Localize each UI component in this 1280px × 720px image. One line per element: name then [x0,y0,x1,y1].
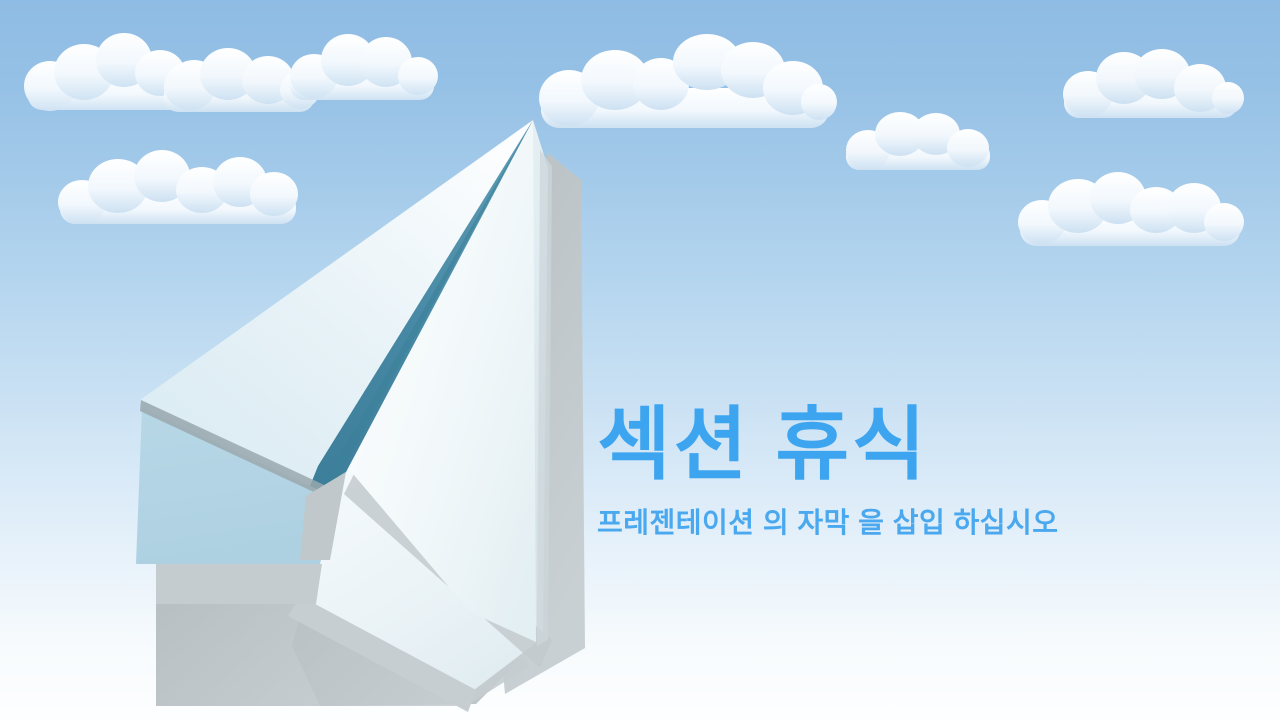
plane-shadow-wing-underside [156,556,530,706]
plane-panel-top-strip [140,400,335,501]
plane-wing-panel [136,408,336,564]
plane-panel-shadow-wedge [300,472,346,560]
plane-body-face [330,120,536,642]
paper-airplane-illustration [0,0,1280,720]
cloud-mid-right [1016,170,1244,248]
plane-rear-fin-highlight [537,150,552,646]
plane-fold-edge [306,120,533,496]
plane-far-wing [348,120,548,642]
plane-shadow-rear-fin [500,152,585,694]
cloud-top-right [1060,48,1242,120]
cloud-mid-center [842,112,994,172]
cloud-top-left-b [160,38,320,114]
plane-keel-bottom-shadow [288,596,476,712]
paper-airplane-svg [0,0,1280,720]
slide-subtitle[interactable]: 프레젠테이션 의 자막 을 삽입 하십시오 [597,485,1197,539]
plane-panel-bottom-ledge [156,564,322,604]
cloud-top-mid [286,30,438,102]
plane-fold-crease [322,120,533,493]
cloud-mid-left [56,150,300,226]
plane-keel-shadow [344,470,552,668]
plane-shadow-lower-body [292,556,520,706]
presentation-slide: 섹션 휴식 프레젠테이션 의 자막 을 삽입 하십시오 [0,0,1280,720]
slide-title[interactable]: 섹션 휴식 [597,405,1197,485]
plane-keel-face [300,468,545,690]
cloud-top-center [535,36,835,130]
slide-text-block: 섹션 휴식 프레젠테이션 의 자막 을 삽입 하십시오 [597,405,1197,539]
cloud-top-left [22,28,232,112]
plane-top-wing [140,120,533,493]
